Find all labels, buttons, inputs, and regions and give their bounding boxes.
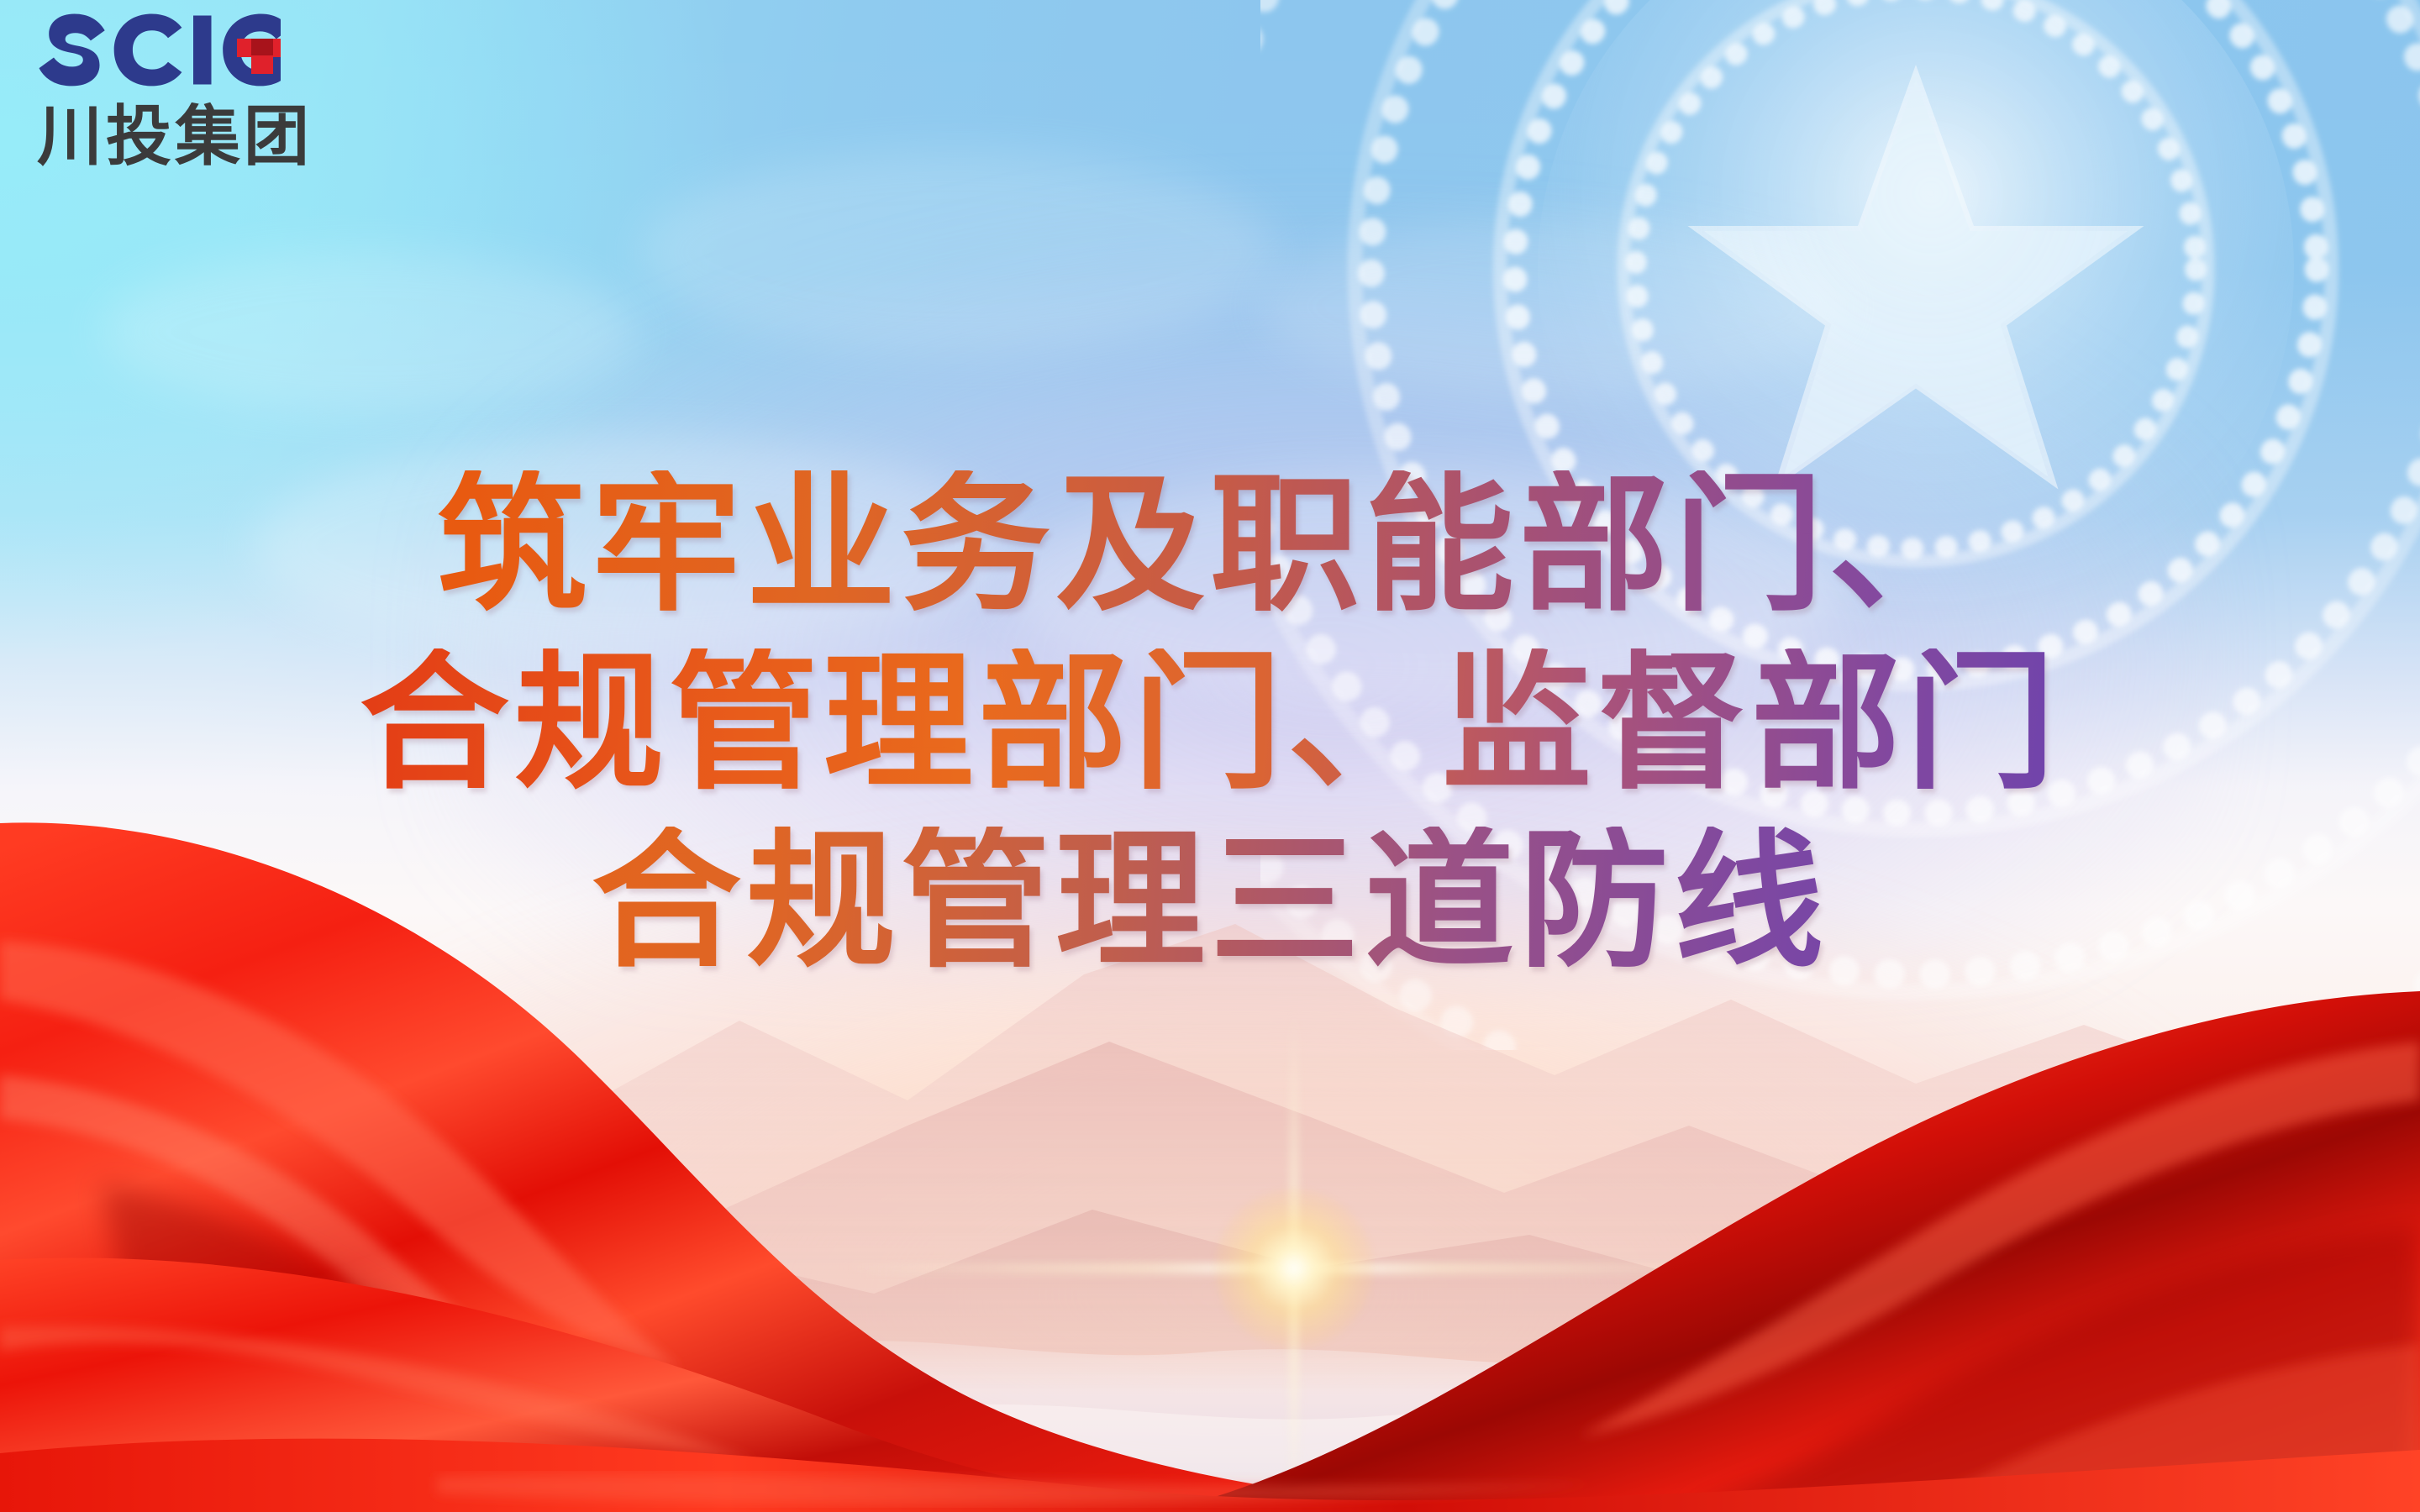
headline-block: 筑牢业务及职能部门、 合规管理部门、监督部门 合规管理三道防线 xyxy=(0,470,2420,1005)
compliance-banner: 川投集团 SCIC 筑牢业务及职能部门、 合规管理部门、监督部门 合规管理三道防… xyxy=(0,0,2420,1512)
headline-line-1: 筑牢业务及职能部门、 xyxy=(0,470,2420,620)
headline-line-3: 合规管理三道防线 xyxy=(0,827,2420,976)
company-name-cn: 川投集团 xyxy=(37,104,466,170)
headline-line-2: 合规管理部门、监督部门 xyxy=(0,648,2420,798)
scic-wordmark-icon xyxy=(29,7,281,97)
scic-logo[interactable]: 川投集团 SCIC xyxy=(29,7,466,170)
